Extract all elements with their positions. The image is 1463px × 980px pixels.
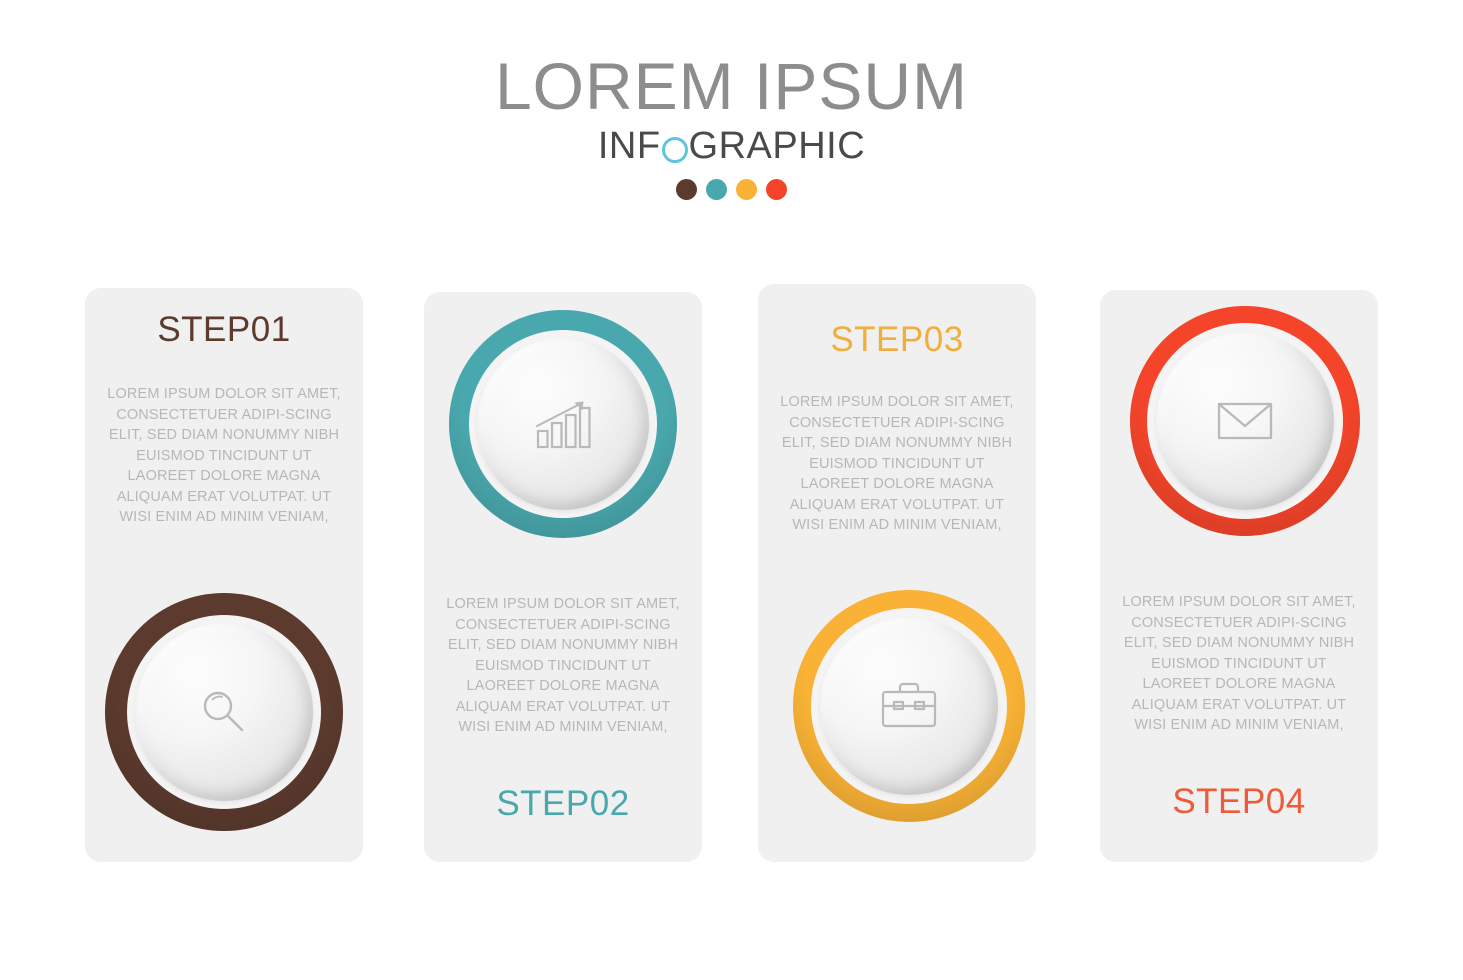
infographic-canvas: LOREM IPSUM INF GRAPHIC STEP01 LOREM IPS…: [0, 0, 1463, 980]
step02-label: STEP02: [424, 784, 702, 824]
step01-body-text: LOREM IPSUM DOLOR SIT AMET, CONSECTETUER…: [85, 384, 363, 528]
dot-red: [766, 179, 787, 200]
subtitle-part-1: INF: [598, 127, 661, 167]
infographic-o-ring-icon: [662, 137, 688, 163]
card-step03[interactable]: STEP03 LOREM IPSUM DOLOR SIT AMET, CONSE…: [758, 284, 1036, 862]
dot-brown: [676, 179, 697, 200]
page-subtitle: INF GRAPHIC: [0, 127, 1463, 167]
step03-body-text: LOREM IPSUM DOLOR SIT AMET, CONSECTETUER…: [758, 392, 1036, 536]
step04-medallion[interactable]: [1130, 306, 1360, 536]
step04-body-text: LOREM IPSUM DOLOR SIT AMET, CONSECTETUER…: [1100, 592, 1378, 736]
step02-medallion[interactable]: [449, 310, 677, 538]
card-step01[interactable]: STEP01 LOREM IPSUM DOLOR SIT AMET, CONSE…: [85, 288, 363, 862]
dot-amber: [736, 179, 757, 200]
page-title: LOREM IPSUM: [0, 52, 1463, 121]
step03-medallion[interactable]: [793, 590, 1025, 822]
color-dots-row: [0, 179, 1463, 200]
subtitle-part-2: GRAPHIC: [689, 127, 866, 167]
step01-label: STEP01: [85, 310, 363, 350]
magnifier-icon: [195, 683, 253, 741]
step03-label: STEP03: [758, 320, 1036, 360]
step03-inner-disc: [820, 617, 998, 795]
card-step02[interactable]: LOREM IPSUM DOLOR SIT AMET, CONSECTETUER…: [424, 292, 702, 862]
step02-body-text: LOREM IPSUM DOLOR SIT AMET, CONSECTETUER…: [424, 594, 702, 738]
envelope-icon: [1215, 398, 1275, 444]
step04-inner-disc: [1156, 332, 1334, 510]
step04-label: STEP04: [1100, 782, 1378, 822]
dot-teal: [706, 179, 727, 200]
step01-inner-disc: [135, 623, 313, 801]
briefcase-icon: [879, 680, 939, 732]
header-title-block: LOREM IPSUM INF GRAPHIC: [0, 52, 1463, 200]
bar-chart-growth-icon: [532, 395, 594, 453]
card-step04[interactable]: LOREM IPSUM DOLOR SIT AMET, CONSECTETUER…: [1100, 290, 1378, 862]
step01-medallion[interactable]: [105, 593, 343, 831]
step02-inner-disc: [477, 338, 649, 510]
